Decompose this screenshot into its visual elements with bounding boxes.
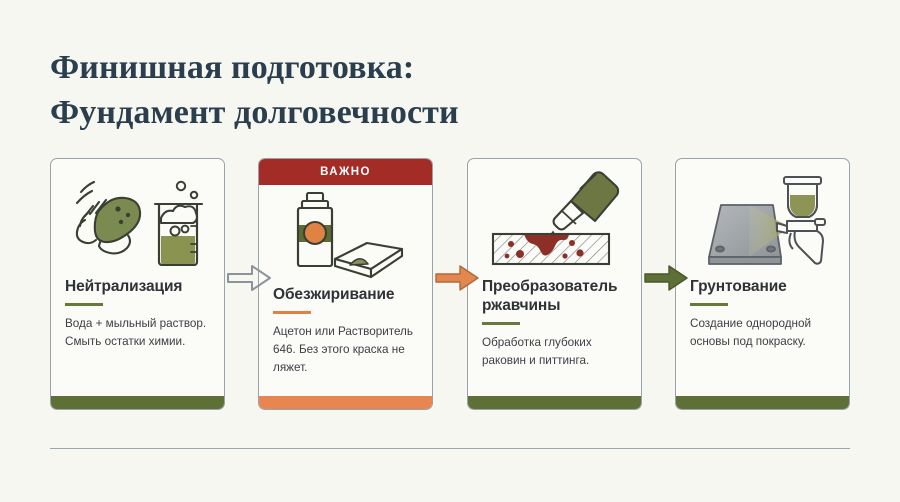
- step-card-footer-bar: [468, 396, 641, 409]
- step-card-neutralization[interactable]: Нейтрализация Вода + мыльный раствор. См…: [50, 158, 225, 410]
- step-card-footer-bar: [259, 396, 432, 409]
- step-card-degreasing[interactable]: ВАЖНО Обезжиривание: [258, 158, 433, 410]
- step-card-text: Создание однородной основы под покраску.: [690, 315, 835, 351]
- accent-rule: [273, 311, 311, 314]
- step-card-text: Вода + мыльный раствор. Смыть остатки хи…: [65, 315, 210, 351]
- arrow-step-2-to-3: [434, 263, 480, 293]
- step-card-title: Обезжиривание: [273, 285, 418, 304]
- arrow-step-1-to-2: [226, 263, 272, 293]
- accent-rule: [482, 322, 520, 325]
- solvent-can-cloth-icon: [259, 185, 432, 285]
- accent-rule: [690, 303, 728, 306]
- step-card-priming[interactable]: Грунтование Создание однородной основы п…: [675, 158, 850, 410]
- page-title-line-1: Финишная подготовка:: [50, 46, 750, 91]
- step-card-title: Нейтрализация: [65, 277, 210, 296]
- process-steps-row: Нейтрализация Вода + мыльный раствор. См…: [50, 158, 850, 410]
- sponge-beaker-icon: [51, 159, 224, 277]
- step-card-text: Ацетон или Растворитель 646. Без этого к…: [273, 323, 418, 376]
- rust-converter-bottle-icon: [468, 159, 641, 277]
- step-card-title: Грунтование: [690, 277, 835, 296]
- step-card-rust-converter[interactable]: Преобразователь ржавчины Обработка глубо…: [467, 158, 642, 410]
- page-title: Финишная подготовка: Фундамент долговечн…: [50, 46, 750, 136]
- step-card-body: Обезжиривание Ацетон или Растворитель 64…: [259, 285, 432, 396]
- spray-gun-panel-icon: [676, 159, 849, 277]
- page-title-line-2: Фундамент долговечности: [50, 91, 750, 136]
- step-card-body: Грунтование Создание однородной основы п…: [676, 277, 849, 396]
- footer-divider: [50, 448, 850, 449]
- step-card-body: Преобразователь ржавчины Обработка глубо…: [468, 277, 641, 396]
- important-badge: ВАЖНО: [259, 159, 432, 185]
- step-card-title: Преобразователь ржавчины: [482, 277, 627, 315]
- step-card-footer-bar: [676, 396, 849, 409]
- step-card-body: Нейтрализация Вода + мыльный раствор. См…: [51, 277, 224, 396]
- accent-rule: [65, 303, 103, 306]
- step-card-footer-bar: [51, 396, 224, 409]
- arrow-step-3-to-4: [643, 263, 689, 293]
- step-card-text: Обработка глубоких раковин и питтинга.: [482, 334, 627, 370]
